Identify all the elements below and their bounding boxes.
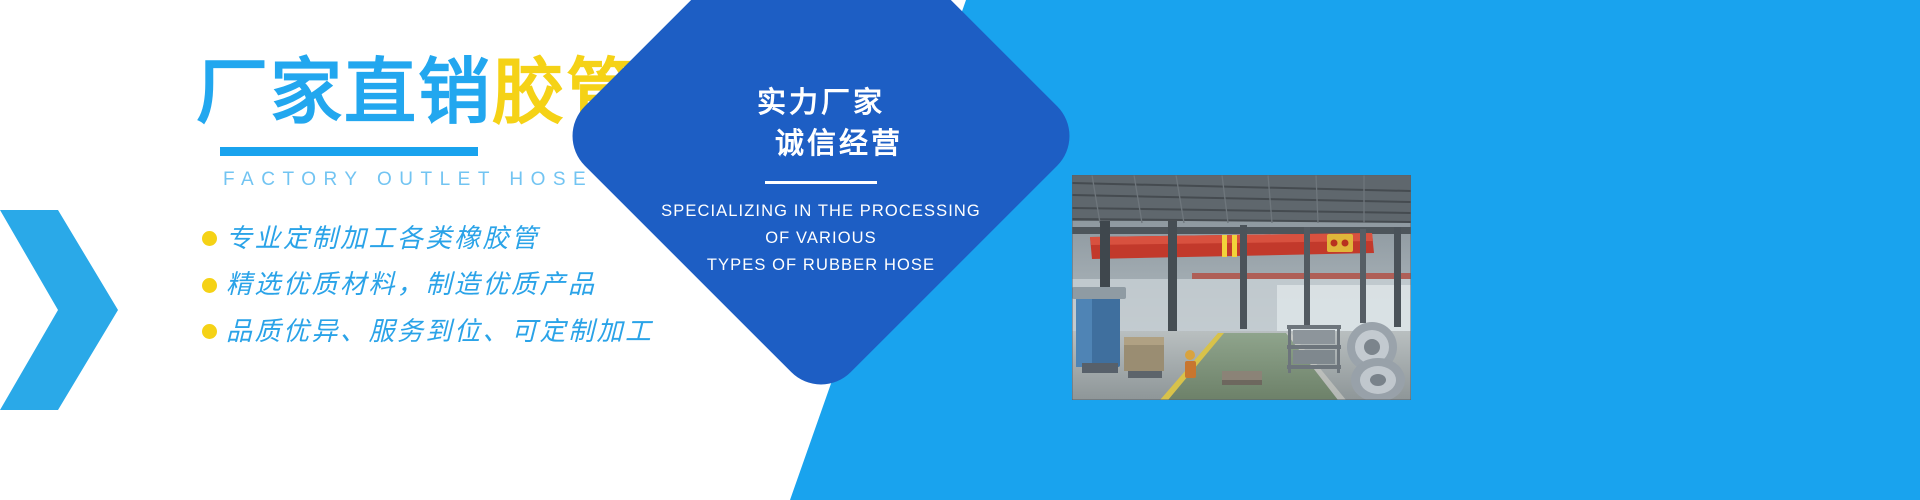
factory-photo (1072, 175, 1411, 400)
bullet-dot-icon (202, 231, 217, 246)
left-chevron-decoration (0, 210, 118, 410)
list-item-label: 专业定制加工各类橡胶管 (226, 223, 540, 256)
diamond-en-line-1: SPECIALIZING IN THE PROCESSING (661, 198, 981, 225)
promo-banner: 厂家直销胶管 FACTORY OUTLET HOSE 专业定制加工各类橡胶管 精… (0, 0, 1920, 500)
list-item-label: 品质优异、服务到位、可定制加工 (226, 316, 654, 349)
title-underline-rule (220, 147, 478, 156)
diamond-badge: 实力厂家 诚信经营 SPECIALIZING IN THE PROCESSING… (633, 0, 1009, 324)
diamond-cn-line-1: 实力厂家 (757, 82, 885, 123)
diamond-en-line-3: TYPES OF RUBBER HOSE (707, 252, 935, 279)
factory-photo-illustration (1072, 175, 1411, 400)
bullet-dot-icon (202, 278, 217, 293)
list-item-label: 精选优质材料，制造优质产品 (226, 269, 597, 302)
bullet-dot-icon (202, 324, 217, 339)
diamond-divider (765, 181, 877, 184)
diamond-cn-line-2: 诚信经营 (775, 123, 903, 164)
headline-blue-text: 厂家直销 (196, 50, 492, 134)
diamond-en-line-2: OF VARIOUS (765, 225, 877, 252)
diamond-content: 实力厂家 诚信经营 SPECIALIZING IN THE PROCESSING… (633, 0, 1009, 324)
